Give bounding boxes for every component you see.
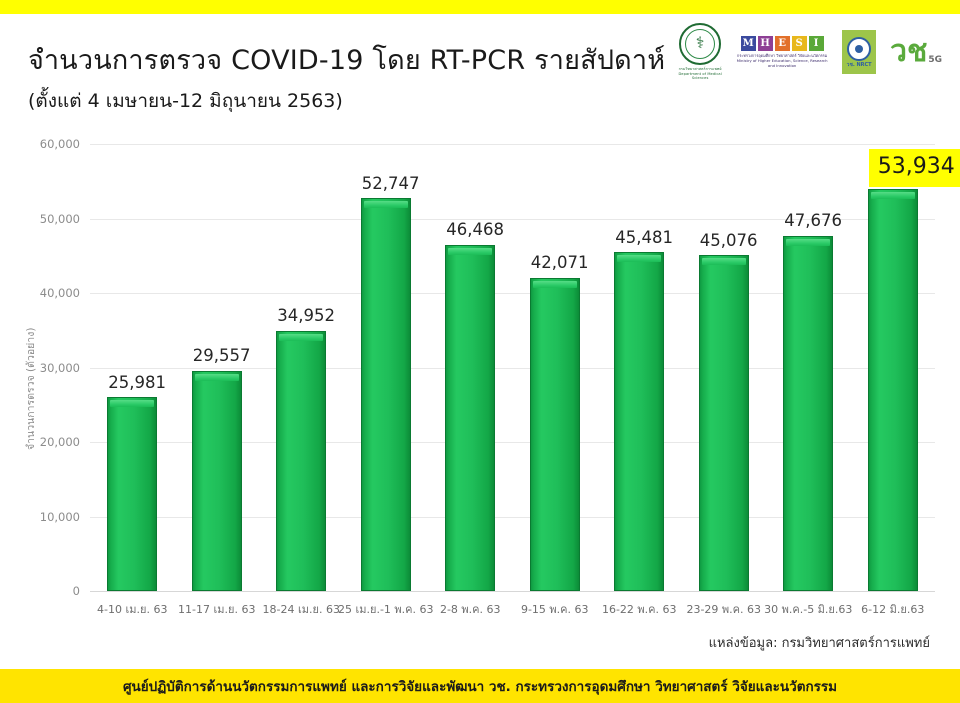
bar[interactable]: 45,076	[699, 255, 749, 591]
bar-slot[interactable]: 45,07623-29 พ.ค. 63	[682, 144, 767, 591]
bar-slot[interactable]: 45,48116-22 พ.ค. 63	[597, 144, 682, 591]
mhesi-letter-row: M H E S I	[741, 36, 824, 51]
footer-band: ศูนย์ปฏิบัติการด้านนวัตกรรมการแพทย์ และก…	[0, 669, 960, 703]
bar-value-label: 52,747	[362, 176, 420, 193]
page-title: จำนวนการตรวจ COVID-19 โดย RT-PCR รายสัปด…	[28, 38, 665, 81]
y-axis-tick-label: 0	[73, 584, 80, 598]
x-axis-tick-label: 30 พ.ค.-5 มิ.ย.63	[764, 600, 852, 618]
bar[interactable]: 45,481	[614, 252, 664, 591]
page-subtitle: (ตั้งแต่ 4 เมษายน-12 มิถุนายน 2563)	[28, 86, 343, 116]
x-axis-tick-label: 16-22 พ.ค. 63	[602, 600, 677, 618]
y-axis-tick-label: 50,000	[40, 212, 80, 226]
mhesi-letter-m: M	[741, 36, 756, 51]
bar-value-label: 47,676	[784, 213, 842, 230]
y-axis-tick-label: 60,000	[40, 137, 80, 151]
bar[interactable]: 25,981	[107, 397, 157, 591]
bar[interactable]: 47,676	[783, 236, 833, 591]
x-axis-tick-label: 4-10 เม.ย. 63	[97, 600, 167, 618]
bar-value-label: 42,071	[531, 255, 589, 272]
bar-value-label: 34,952	[277, 308, 335, 325]
bar[interactable]: 29,557	[192, 371, 242, 591]
bar-value-label: 45,076	[700, 233, 758, 250]
y-axis-title: จำนวนการตรวจ (ตัวอย่าง)	[22, 430, 39, 450]
top-accent-band	[0, 0, 960, 14]
source-note: แหล่งข้อมูล: กรมวิทยาศาสตร์การแพทย์	[709, 632, 930, 653]
x-axis-tick-label: 11-17 เม.ย. 63	[178, 600, 255, 618]
bar-slot[interactable]: 25,9814-10 เม.ย. 63	[90, 144, 175, 591]
bar-slot[interactable]: 46,4682-8 พ.ค. 63	[428, 144, 513, 591]
wor-glyph-icon: วช	[890, 37, 927, 67]
x-axis-tick-label: 9-15 พ.ค. 63	[521, 600, 589, 618]
bar-value-label: 29,557	[193, 348, 251, 365]
y-axis-tick-label: 10,000	[40, 510, 80, 524]
y-axis-tick-label: 40,000	[40, 286, 80, 300]
bar-value-label-highlighted: 53,934	[869, 149, 960, 187]
department-of-medical-sciences-logo: ⚕ กรมวิทยาศาสตร์การแพทย์ Department of M…	[676, 23, 724, 82]
dms-seal-icon: ⚕	[679, 23, 721, 65]
nrct-logo: วช. NRCT	[842, 30, 876, 74]
bar-slot[interactable]: 47,67630 พ.ค.-5 มิ.ย.63	[766, 144, 851, 591]
gridline: 0	[90, 591, 935, 592]
bar-slot[interactable]: 42,0719-15 พ.ค. 63	[513, 144, 598, 591]
wor-5g-suffix: 5G	[928, 55, 942, 65]
mhesi-letter-h: H	[758, 36, 773, 51]
mhesi-letter-e: E	[775, 36, 790, 51]
bar[interactable]: 53,934	[868, 189, 918, 591]
mhesi-logo-caption: กระทรวงการอุดมศึกษา วิทยาศาสตร์ วิจัยและ…	[736, 53, 828, 69]
bar-value-label: 25,981	[108, 375, 166, 392]
nrct-logo-label: วช. NRCT	[847, 62, 872, 68]
mhesi-logo: M H E S I กระทรวงการอุดมศึกษา วิทยาศาสตร…	[736, 36, 828, 69]
x-axis-tick-label: 6-12 มิ.ย.63	[861, 600, 924, 618]
nrct-wheel-icon	[847, 37, 871, 61]
bar-series: 25,9814-10 เม.ย. 6329,55711-17 เม.ย. 633…	[90, 144, 935, 591]
x-axis-tick-label: 2-8 พ.ค. 63	[440, 600, 501, 618]
bar-value-label: 45,481	[615, 230, 673, 247]
bar[interactable]: 34,952	[276, 331, 326, 591]
x-axis-tick-label: 23-29 พ.ค. 63	[686, 600, 761, 618]
bar-slot[interactable]: 52,74725 เม.ย.-1 พ.ค. 63	[344, 144, 429, 591]
bar[interactable]: 52,747	[361, 198, 411, 591]
bar-value-label: 46,468	[446, 222, 504, 239]
mhesi-letter-s: S	[792, 36, 807, 51]
y-axis-tick-label: 30,000	[40, 361, 80, 375]
y-axis-tick-label: 20,000	[40, 435, 80, 449]
logo-strip: ⚕ กรมวิทยาศาสตร์การแพทย์ Department of M…	[676, 20, 942, 84]
x-axis-tick-label: 18-24 เม.ย. 63	[263, 600, 340, 618]
caduceus-icon: ⚕	[681, 35, 719, 51]
footer-band-text: ศูนย์ปฏิบัติการด้านนวัตกรรมการแพทย์ และก…	[123, 675, 837, 697]
wor-5g-logo: วช 5G	[890, 37, 942, 67]
bar[interactable]: 46,468	[445, 245, 495, 591]
bar[interactable]: 42,071	[530, 278, 580, 591]
bar-chart: จำนวนการตรวจ (ตัวอย่าง) 60,00050,00040,0…	[0, 130, 960, 630]
bar-slot[interactable]: 53,9346-12 มิ.ย.63	[851, 144, 936, 591]
mhesi-letter-i: I	[809, 36, 824, 51]
x-axis-tick-label: 25 เม.ย.-1 พ.ค. 63	[338, 600, 434, 618]
bar-slot[interactable]: 29,55711-17 เม.ย. 63	[175, 144, 260, 591]
bar-slot[interactable]: 34,95218-24 เม.ย. 63	[259, 144, 344, 591]
plot-area: 60,00050,00040,00030,00020,00010,0000 25…	[90, 144, 935, 591]
header: จำนวนการตรวจ COVID-19 โดย RT-PCR รายสัปด…	[0, 14, 960, 130]
dms-logo-caption: กรมวิทยาศาสตร์การแพทย์ Department of Med…	[671, 67, 729, 82]
